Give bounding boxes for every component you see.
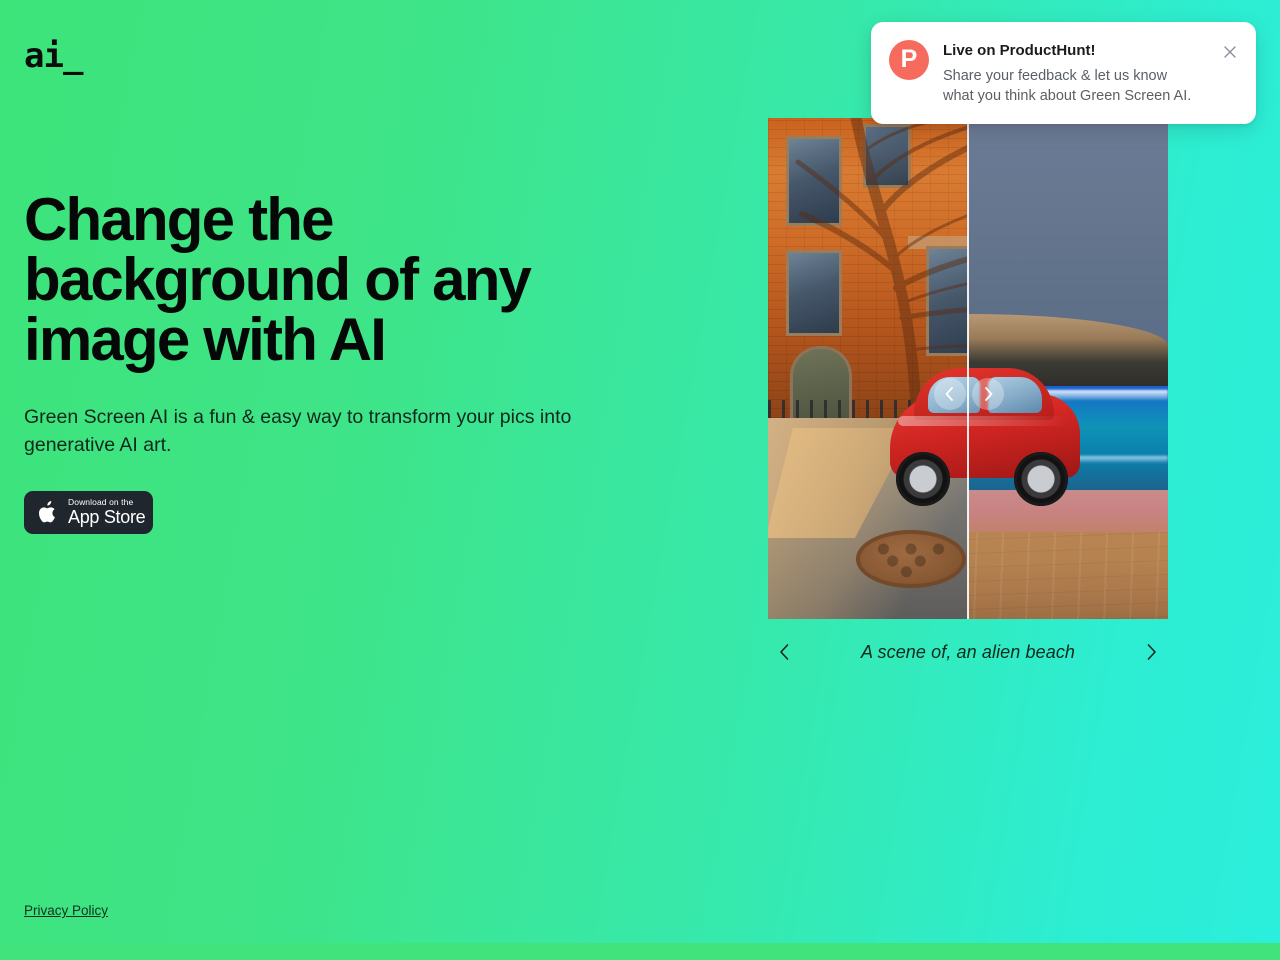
app-store-download-button[interactable]: Download on the App Store — [24, 491, 153, 534]
app-store-small-label: Download on the — [68, 498, 145, 507]
carousel-controls: A scene of, an alien beach — [768, 639, 1168, 665]
notification-title: Live on ProductHunt! — [943, 41, 1206, 61]
carousel-next-button[interactable] — [1138, 639, 1164, 665]
compare-handle-next[interactable] — [972, 378, 1004, 410]
chevron-right-icon — [980, 386, 996, 402]
carousel-caption: A scene of, an alien beach — [798, 642, 1138, 663]
landing-page: ai_ Change the background of any image w… — [0, 0, 1280, 960]
chevron-right-icon — [1141, 642, 1161, 662]
chevron-left-icon — [942, 386, 958, 402]
footer-band — [0, 943, 1280, 960]
compare-split-line — [967, 118, 969, 619]
carousel-prev-button[interactable] — [772, 639, 798, 665]
privacy-policy-link[interactable]: Privacy Policy — [24, 903, 108, 918]
before-after-compare[interactable] — [768, 118, 1168, 619]
close-icon — [1223, 45, 1237, 59]
producthunt-icon: P — [889, 40, 929, 80]
chevron-left-icon — [775, 642, 795, 662]
notification-message: Share your feedback & let us know what y… — [943, 66, 1195, 106]
apple-icon — [38, 500, 59, 525]
app-store-big-label: App Store — [68, 508, 145, 527]
image-carousel: A scene of, an alien beach — [768, 118, 1168, 665]
compare-handle-prev[interactable] — [934, 378, 966, 410]
notification-close-button[interactable] — [1220, 42, 1240, 62]
brand-logo[interactable]: ai_ — [24, 39, 82, 73]
hero-subtitle: Green Screen AI is a fun & easy way to t… — [24, 403, 580, 459]
page-title: Change the background of any image with … — [24, 190, 544, 370]
notification-body: Live on ProductHunt! Share your feedback… — [943, 40, 1206, 106]
producthunt-notification[interactable]: P Live on ProductHunt! Share your feedba… — [871, 22, 1256, 124]
hero-section: Change the background of any image with … — [24, 190, 584, 534]
